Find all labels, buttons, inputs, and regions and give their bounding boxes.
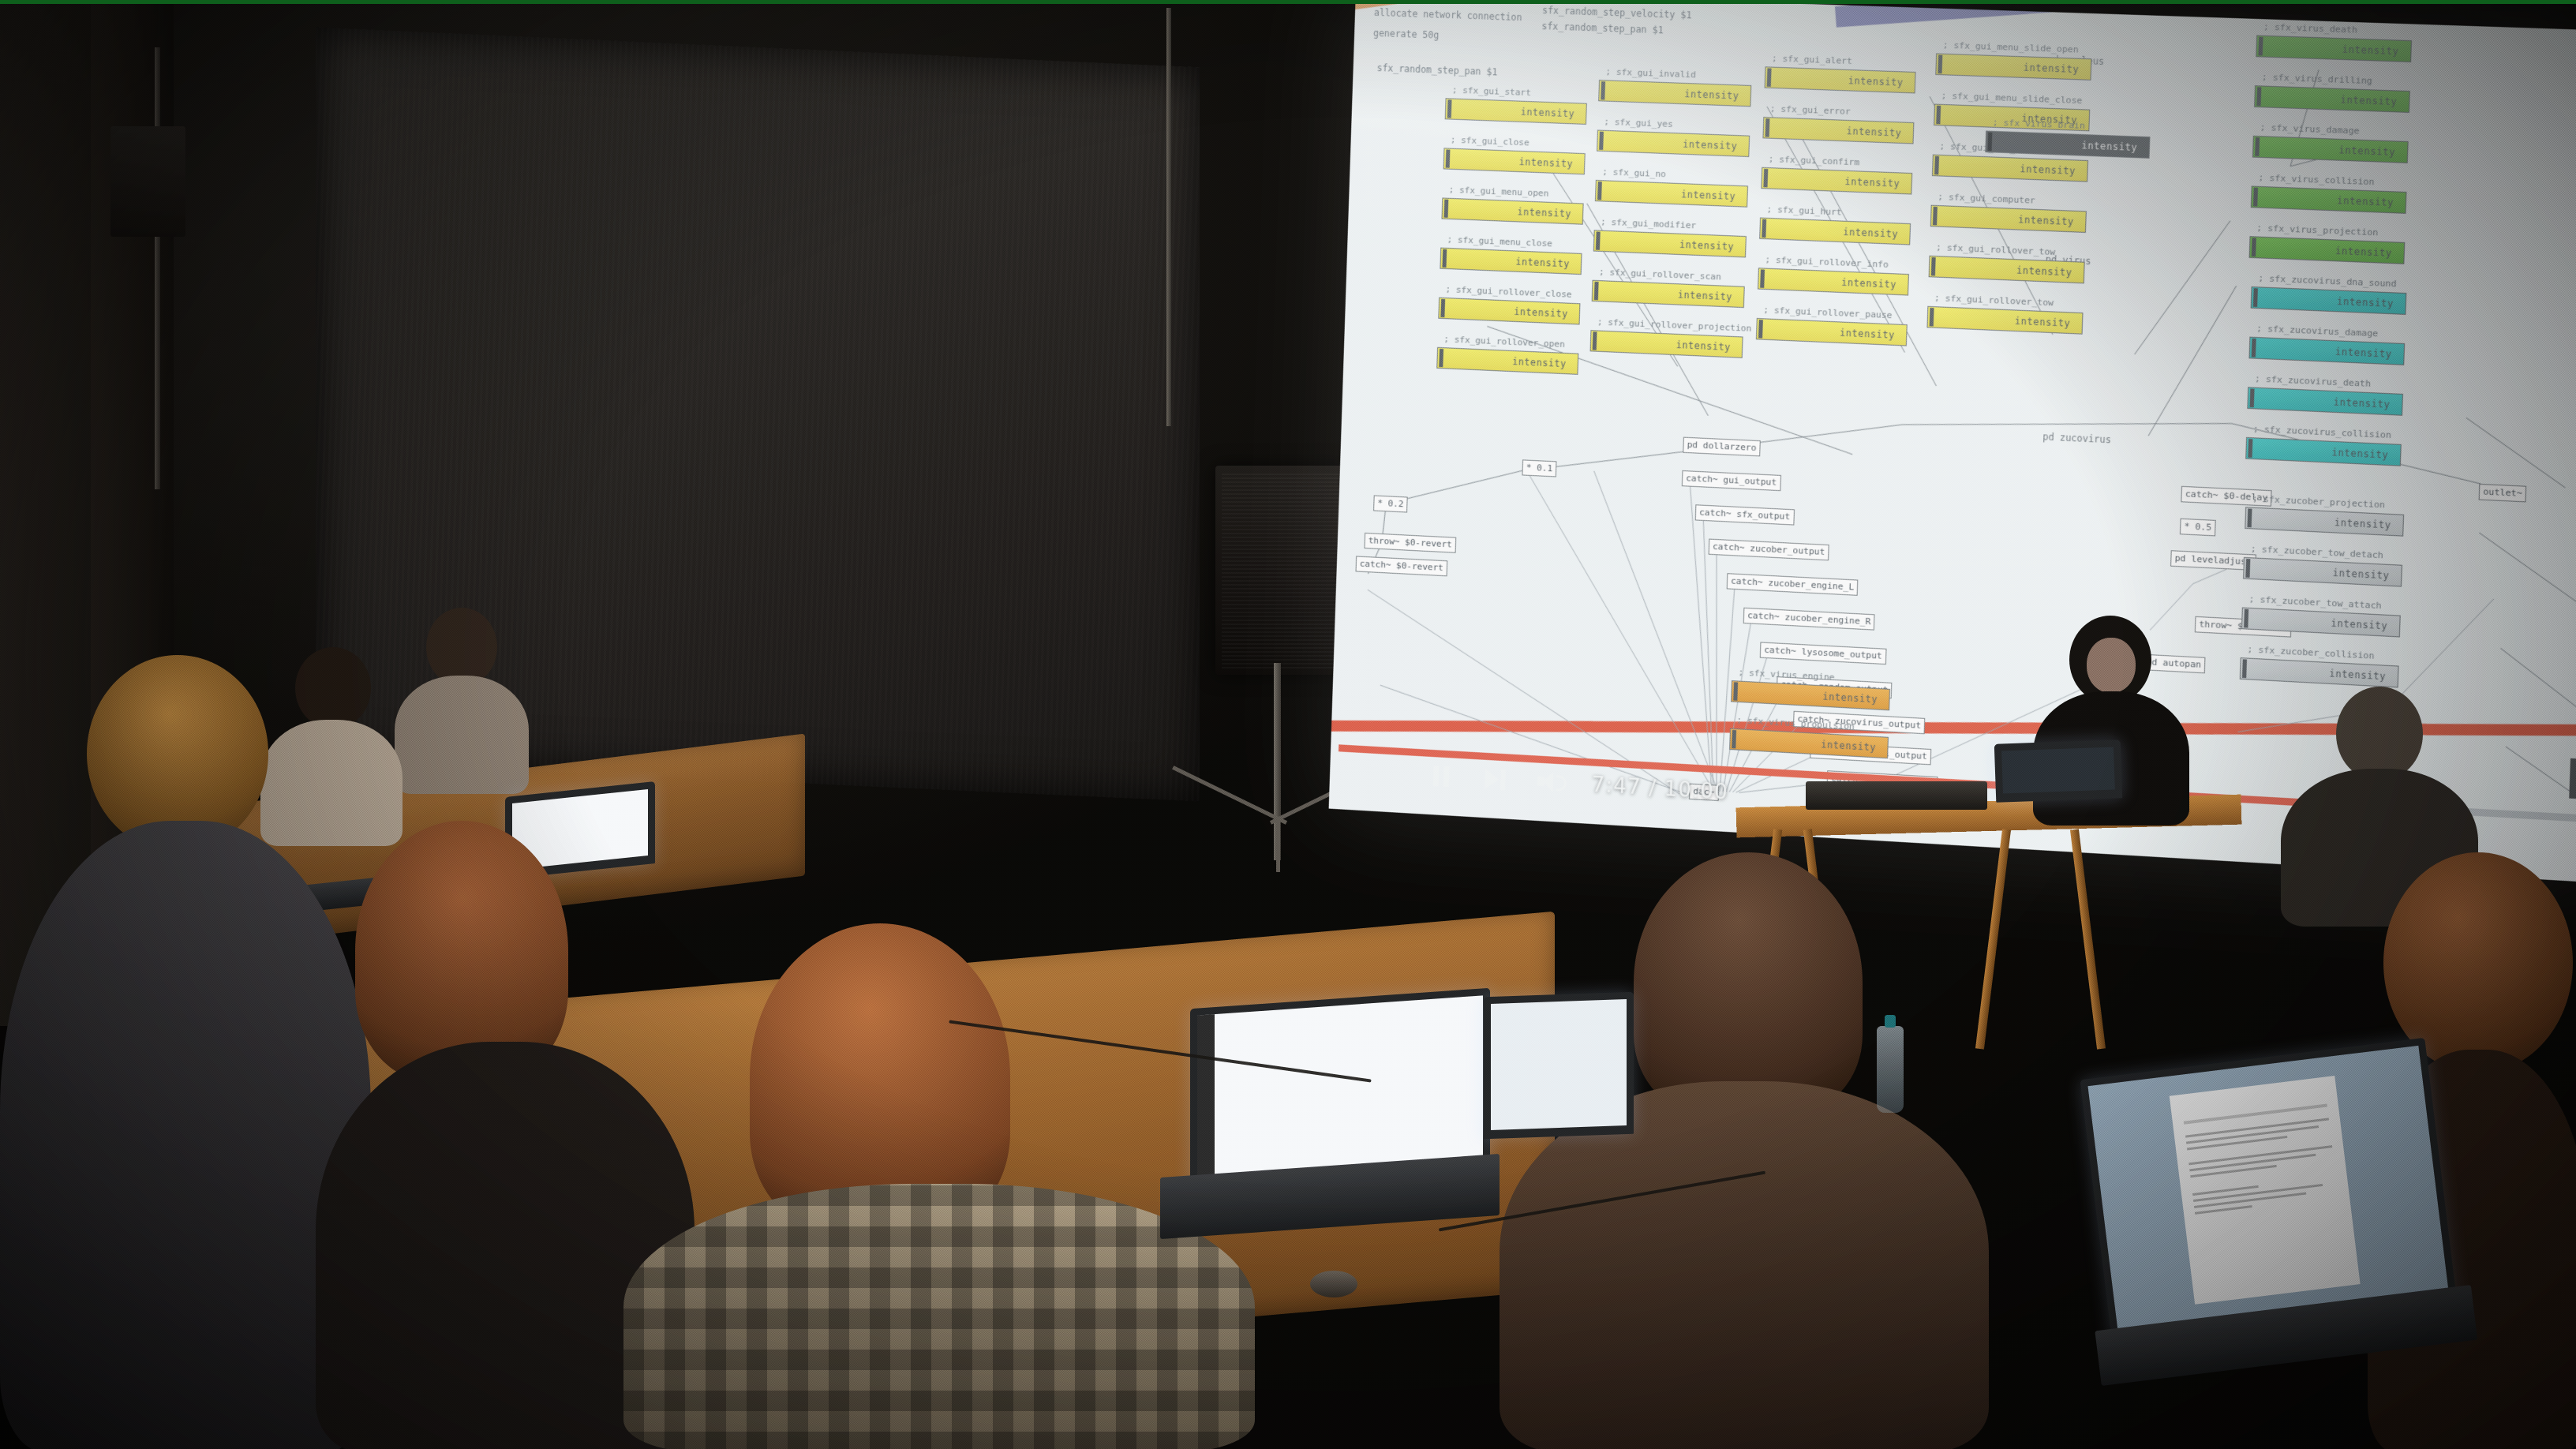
slider-intensity-label: intensity [1681,189,1735,202]
intensity-slider-sfx_gui_hurt[interactable]: intensity [1759,218,1911,245]
slider-knob[interactable] [1732,730,1736,749]
slider-intensity-label: intensity [2331,447,2388,461]
audience-head [2336,687,2423,781]
slider-send-label: ; sfx_gui_menu_close [1447,234,1552,249]
slider-intensity-label: intensity [1517,206,1571,219]
slider-send-label: ; sfx_virus_drilling [2262,72,2372,86]
patch-object[interactable]: * 0.2 [1373,495,1408,512]
slider-knob[interactable] [1763,169,1768,187]
intensity-slider-sfx_virus_drilling[interactable]: intensity [2254,85,2410,113]
slider-send-label: ; sfx_gui_alert [1772,53,1852,66]
intensity-slider-sfx_zucovirus_damage[interactable]: intensity [2248,337,2405,365]
slider-intensity-label: intensity [2335,346,2392,360]
slider-send-label: ; sfx_gui_menu_slide_open [1943,39,2079,54]
slider-knob[interactable] [1938,55,1942,74]
intensity-slider-sfx_virus_damage[interactable]: intensity [2252,136,2409,163]
intensity-slider-sfx_gui_rollover_tow[interactable]: intensity [1926,306,2083,335]
pa-speaker-on-tripod [1215,466,1346,675]
slider-send-label: ; sfx_virus_death [2263,21,2357,35]
intensity-slider-sfx_gui_menu_slide_open[interactable]: intensity [1935,53,2091,80]
slider-knob[interactable] [1930,308,1934,327]
slider-intensity-label: intensity [2337,194,2394,208]
slider-send-label: ; sfx_gui_no [1602,167,1666,179]
intensity-slider-sfx_gui_start[interactable]: intensity [1445,98,1587,125]
presenter-face [2087,638,2136,693]
slider-send-label: ; sfx_gui_menu_open [1449,185,1549,199]
patch-object[interactable]: catch~ $0-revert [1356,556,1448,576]
slider-intensity-label: intensity [2333,567,2390,581]
intensity-slider-sfx_gui_invalid[interactable]: intensity [1598,80,1751,107]
center-laptop-dock [1197,1014,1215,1178]
slider-send-label: ; sfx_gui_rollover_tow [1934,293,2054,309]
volume-icon[interactable] [1537,770,1561,796]
slider-intensity-label: intensity [1519,156,1574,170]
slider-intensity-label: intensity [2020,163,2076,176]
intensity-slider-sfx_gui_rollover_scan[interactable]: intensity [1592,280,1745,308]
torso [395,676,529,794]
document-laptop-screen [2087,1046,2448,1329]
green-scanline-artifact [0,0,2576,4]
slider-send-label: ; sfx_gui_computer [1938,192,2035,206]
slider-knob[interactable] [1596,231,1601,249]
presenter-laptop-lid [1994,739,2122,803]
intensity-slider-sfx_zucovirus_death[interactable]: intensity [2247,387,2403,416]
intensity-slider-sfx_zucovirus_collision[interactable]: intensity [2245,437,2402,466]
patch-comment: pd zucovirus [2042,431,2111,445]
pause-icon[interactable] [1429,764,1454,789]
center-laptop-screen [1197,995,1483,1177]
patch-comment: sfx_random_step_velocity $1 [1542,5,1692,21]
slider-knob[interactable] [2255,137,2260,156]
slider-intensity-label: intensity [1822,691,1878,705]
slider-send-label: ; sfx_gui_menu_slide_close [1941,91,2082,107]
intensity-slider-sfx_gui_modifier[interactable]: intensity [1593,230,1747,257]
presenter-laptop[interactable] [1995,742,2121,813]
patch-object[interactable]: catch~ zucober_engine_R [1743,608,1875,631]
intensity-slider-sfx_virus_brain[interactable]: intensity [1985,131,2150,159]
slider-intensity-label: intensity [2338,144,2395,158]
slider-send-label: ; sfx_gui_close [1451,135,1529,148]
screen-pole-right [1166,8,1171,426]
patch-object[interactable]: pd dollarzero [1683,437,1761,457]
slider-knob[interactable] [1762,219,1766,238]
slider-intensity-label: intensity [2016,264,2072,278]
slider-intensity-label: intensity [2334,396,2391,410]
tripod-leg-center [1276,821,1280,872]
slider-intensity-label: intensity [2329,668,2386,682]
audience-person-back-1 [395,608,529,781]
intensity-slider-sfx_virus_death[interactable]: intensity [2256,35,2412,62]
screen-pole-left [155,47,160,489]
slider-intensity-label: intensity [1841,276,1896,290]
water-bottle [1877,1026,1904,1113]
slider-intensity-label: intensity [2342,43,2399,57]
slider-knob[interactable] [2253,188,2258,207]
patch-object[interactable]: * 0.1 [1522,459,1556,477]
slider-intensity-label: intensity [2024,62,2080,75]
intensity-slider-sfx_gui_no[interactable]: intensity [1595,180,1748,208]
head [1634,852,1863,1113]
patch-object[interactable]: catch~ zucober_output [1709,539,1829,561]
slider-intensity-label: intensity [1847,125,1902,139]
intensity-slider-sfx_gui_alert[interactable]: intensity [1765,66,1916,93]
center-laptop-lid [1190,988,1490,1187]
intensity-slider-sfx_gui_computer[interactable]: intensity [1930,205,2087,233]
slider-knob[interactable] [2253,288,2258,307]
slider-knob[interactable] [1593,331,1597,350]
slider-knob[interactable] [2256,87,2261,106]
slider-knob[interactable] [1440,299,1445,317]
slider-send-label: ; sfx_gui_rollover_open [1443,334,1565,350]
slider-knob[interactable] [2244,609,2248,628]
slider-knob[interactable] [1987,133,1992,152]
slider-intensity-label: intensity [1843,226,1898,239]
corner-timestamp: 7: [2569,758,2576,801]
slider-knob[interactable] [1444,200,1449,218]
patch-object[interactable]: throw~ $0-revert [1364,533,1456,553]
intensity-slider-sfx_gui_rollover_open[interactable]: intensity [1436,347,1578,375]
patch-object[interactable]: * 0.5 [2180,519,2216,537]
slider-send-label: ; sfx_gui_hurt [1766,204,1841,218]
slider-knob[interactable] [2247,508,2252,527]
slider-send-label: ; sfx_virus_damage [2260,122,2359,137]
slider-knob[interactable] [1594,282,1599,300]
document-laptop[interactable] [2065,1035,2482,1418]
slider-knob[interactable] [1599,132,1604,150]
intensity-slider-sfx_zucovirus_dna_sound[interactable]: intensity [2251,286,2407,315]
screen [1491,999,1627,1130]
intensity-slider-sfx_gui_yes[interactable]: intensity [1597,129,1750,157]
slider-send-label: ; sfx_gui_rollover_scan [1599,267,1721,283]
slider-knob[interactable] [1446,149,1451,167]
slider-intensity-label: intensity [1515,256,1570,269]
head [426,608,497,687]
slider-knob[interactable] [2250,388,2255,407]
slider-intensity-label: intensity [1821,739,1876,753]
slider-send-label: ; sfx_gui_rollover_info [1765,254,1889,270]
intensity-slider-sfx_gui_error[interactable]: intensity [1762,117,1914,144]
intensity-slider-sfx_zucober_projection[interactable]: intensity [2245,507,2404,536]
center-laptop-open[interactable] [1160,998,1500,1235]
slider-intensity-label: intensity [1521,106,1575,119]
patch-object[interactable]: outlet~ [2479,484,2527,503]
next-track-icon[interactable] [1483,767,1507,792]
intensity-slider-sfx_gui_close[interactable]: intensity [1443,148,1586,174]
slider-intensity-label: intensity [2337,295,2394,309]
intensity-slider-sfx_gui_rollover_close[interactable]: intensity [1438,298,1580,325]
volume-wave-icon [1556,775,1567,792]
slider-knob[interactable] [1765,118,1770,137]
patch-comment: generate 50g [1373,28,1440,41]
workshop-room-scene: allocate network connectiongenerate 50gs… [0,0,2576,1449]
patch-object[interactable]: catch~ gui_output [1682,470,1781,491]
speaker-grille [1222,472,1339,668]
mixer-controller[interactable] [1806,781,1987,810]
intensity-slider-sfx_gui_rollover_pause[interactable]: intensity [1756,318,1908,346]
slider-knob[interactable] [1758,320,1763,338]
slider-send-label: ; sfx_gui_yes [1604,117,1673,129]
intensity-slider-sfx_zucober_tow_detach[interactable]: intensity [2243,557,2402,587]
slider-send-label: ; sfx_zucovirus_dna_sound [2258,273,2397,290]
intensity-slider-sfx_zucober_collision[interactable]: intensity [2240,657,2399,687]
patch-comment: sfx_random_step_pan $1 [1376,62,1497,77]
slider-intensity-label: intensity [1683,138,1737,152]
patch-object[interactable]: catch~ sfx_output [1695,504,1795,525]
intensity-slider-sfx_virus_projection[interactable]: intensity [2249,236,2406,264]
slider-knob[interactable] [1933,207,1938,226]
slider-knob[interactable] [1439,349,1443,367]
slider-intensity-label: intensity [1514,305,1568,319]
intensity-slider-sfx_gui_rollover_info[interactable]: intensity [1758,268,1909,295]
slider-send-label: ; sfx_zucovirus_death [2255,373,2371,389]
slider-send-label: ; sfx_gui_modifier [1601,217,1696,231]
slider-intensity-label: intensity [2015,315,2071,328]
slider-send-label: ; sfx_gui_confirm [1769,154,1860,168]
pa-speaker-wall [110,126,185,237]
slider-send-label: ; sfx_gui_rollover_tow [1936,242,2056,257]
slider-send-label: ; sfx_gui_invalid [1605,66,1696,80]
patch-object[interactable]: catch~ zucober_engine_L [1727,573,1859,596]
presenter-laptop-screen [2001,747,2115,794]
slider-knob[interactable] [1936,106,1941,125]
slider-intensity-label: intensity [2334,516,2391,530]
computer-mouse[interactable] [1310,1271,1357,1297]
slider-send-label: ; sfx_gui_rollover_close [1445,284,1571,300]
slider-knob[interactable] [1760,269,1765,287]
slider-send-label: ; sfx_virus_brain [1993,117,2086,131]
slider-send-label: ; sfx_virus_collision [2258,172,2374,187]
slider-knob[interactable] [1931,257,1936,276]
slider-knob[interactable] [1601,81,1605,99]
slider-knob[interactable] [2248,439,2252,458]
slider-knob[interactable] [1767,68,1772,86]
slider-knob[interactable] [2258,37,2263,56]
lid [1484,992,1634,1140]
slider-intensity-label: intensity [2340,94,2397,107]
slider-knob[interactable] [1442,249,1447,268]
slider-knob[interactable] [1597,182,1602,200]
slider-intensity-label: intensity [1512,356,1567,369]
video-time-display: 7:47 / 10:00 [1591,773,1728,805]
slider-intensity-label: intensity [1684,88,1739,102]
slider-knob[interactable] [2245,559,2250,578]
right-laptop-dark[interactable] [1484,994,1634,1144]
slider-intensity-label: intensity [1676,339,1731,352]
slider-knob[interactable] [1447,99,1452,118]
slider-send-label: ; sfx_zucovirus_damage [2256,324,2378,339]
patch-comment: sfx_random_step_pan $1 [1541,21,1664,36]
intensity-slider-sfx_gui_menu_close[interactable]: intensity [1440,248,1582,275]
slider-send-label: ; sfx_gui_rollover_pause [1763,305,1893,320]
slider-send-label: ; sfx_virus_projection [2256,223,2378,238]
slider-intensity-label: intensity [2335,245,2392,258]
intensity-slider-sfx_gui_rollover_projection[interactable]: intensity [1590,330,1743,358]
slider-intensity-label: intensity [1848,75,1904,88]
slider-knob[interactable] [2242,659,2247,678]
slider-send-label: ; sfx_gui_error [1770,103,1851,117]
patch-object[interactable]: catch~ lysosome_output [1760,642,1886,665]
audience-person-front-center [1500,852,1989,1449]
document-page [2170,1076,2361,1305]
slider-intensity-label: intensity [1678,289,1732,302]
intensity-slider-sfx_gui_tut_end[interactable]: intensity [1932,155,2088,182]
slider-intensity-label: intensity [2081,140,2137,153]
slider-intensity-label: intensity [2018,214,2074,227]
slider-intensity-label: intensity [2331,617,2387,631]
intensity-slider-sfx_virus_collision[interactable]: intensity [2251,185,2407,213]
slider-knob[interactable] [1733,682,1738,701]
intensity-slider-sfx_gui_confirm[interactable]: intensity [1761,167,1912,195]
slider-intensity-label: intensity [1844,175,1900,189]
slider-knob[interactable] [2252,339,2256,358]
patch-comment: allocate network connection [1374,7,1522,23]
slider-knob[interactable] [2252,238,2256,256]
intensity-slider-sfx_gui_menu_open[interactable]: intensity [1441,197,1583,224]
slider-intensity-label: intensity [1679,238,1734,252]
slider-send-label: ; sfx_gui_start [1452,84,1531,98]
slider-intensity-label: intensity [1840,327,1895,340]
slider-knob[interactable] [1934,156,1939,175]
